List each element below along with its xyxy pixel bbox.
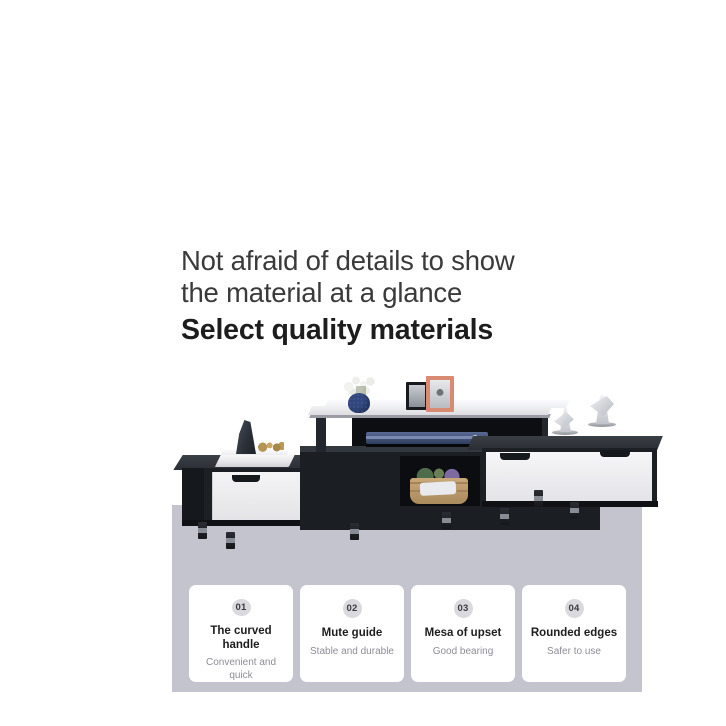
feature-badge-03: 03	[454, 599, 473, 618]
shelf-support-left	[316, 416, 326, 452]
headline-emphasis: Select quality materials	[181, 312, 601, 348]
product-marketing-banner: Not afraid of details to show the materi…	[0, 0, 726, 726]
feature-subtitle-01: Convenient and quick	[189, 656, 293, 682]
feature-card-04[interactable]: 04 Rounded edges Safer to use	[522, 585, 626, 682]
feature-card-02[interactable]: 02 Mute guide Stable and durable	[300, 585, 404, 682]
cabinet-leg	[226, 532, 235, 549]
headline-line-2: the material at a glance	[181, 277, 601, 309]
headline-block: Not afraid of details to show the materi…	[181, 245, 601, 348]
right-drawer-handle-right	[600, 450, 630, 457]
feature-title-02: Mute guide	[318, 627, 387, 641]
cabinet-leg	[500, 508, 509, 525]
feature-badge-01: 01	[232, 599, 251, 616]
feature-cards-row: 01 The curved handle Convenient and quic…	[189, 585, 626, 682]
coral-photo-frame-artwork	[433, 386, 447, 402]
feature-subtitle-04: Safer to use	[543, 645, 605, 658]
stacked-white-books	[215, 454, 295, 467]
ballerina-figurine-skirt	[554, 412, 574, 428]
black-photo-frame-image	[409, 385, 425, 407]
gold-miniature-figurines	[258, 440, 284, 452]
left-cabinet-side-panel	[182, 468, 204, 523]
left-drawer-front	[212, 472, 309, 526]
media-player-faceplate	[366, 436, 488, 439]
tv-stand-product-image	[170, 360, 650, 550]
feature-title-04: Rounded edges	[527, 627, 621, 641]
cabinet-leg	[350, 523, 359, 540]
cabinet-leg	[534, 490, 543, 507]
feature-badge-04: 04	[565, 599, 584, 618]
right-drawer-handle-left	[500, 453, 530, 460]
feature-subtitle-02: Stable and durable	[306, 645, 398, 658]
cabinet-leg	[198, 522, 207, 539]
feature-subtitle-03: Good bearing	[429, 645, 498, 658]
bird-figurine-wing	[590, 396, 614, 416]
feature-badge-02: 02	[343, 599, 362, 618]
cabinet-leg	[570, 502, 579, 519]
feature-card-03[interactable]: 03 Mesa of upset Good bearing	[411, 585, 515, 682]
basket-cloth	[420, 481, 457, 496]
feature-title-01: The curved handle	[189, 625, 293, 652]
cabinet-leg	[442, 512, 451, 529]
vase-pattern-overlay	[348, 393, 370, 413]
dark-abstract-sculpture	[236, 420, 256, 454]
feature-title-03: Mesa of upset	[421, 627, 506, 641]
left-drawer-handle	[232, 475, 260, 482]
feature-card-01[interactable]: 01 The curved handle Convenient and quic…	[189, 585, 293, 682]
headline-line-1: Not afraid of details to show	[181, 245, 601, 277]
